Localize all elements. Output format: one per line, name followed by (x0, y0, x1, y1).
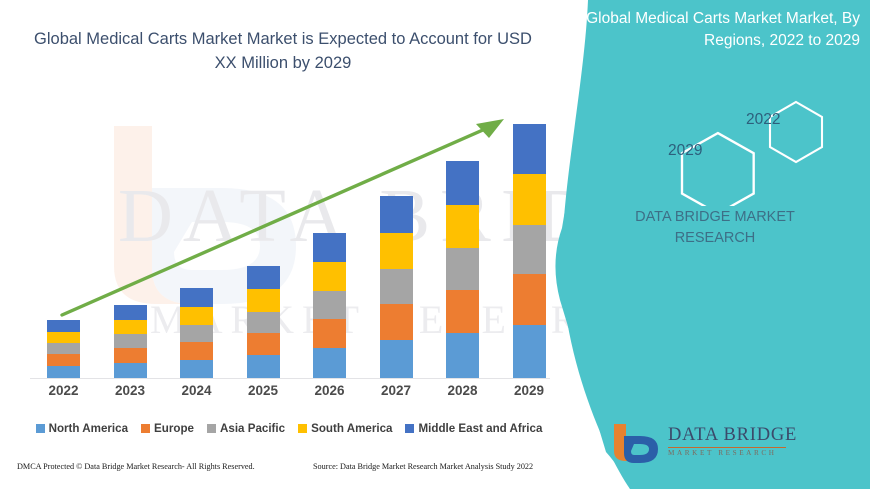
hexagon-label-2029: 2029 (668, 142, 702, 160)
bar-segment-middle-east-and-africa (380, 196, 413, 233)
data-bridge-mark-icon (610, 423, 662, 469)
bar-segment-north-america (513, 325, 546, 378)
legend-swatch-icon (141, 424, 150, 433)
bar-segment-south-america (247, 289, 280, 312)
bar-segment-north-america (114, 363, 147, 378)
copyright-note: DMCA Protected © Data Bridge Market Rese… (17, 462, 255, 471)
legend-item-north-america[interactable]: North America (36, 422, 128, 435)
infographic-canvas: DATA BRIDGE MARKET RESEARCH Global Medic… (0, 0, 870, 489)
bar-2026 (313, 233, 346, 378)
bar-2023 (114, 305, 147, 378)
legend-label: Middle East and Africa (418, 422, 542, 435)
stacked-bar-chart (0, 90, 580, 390)
x-axis-label-2025: 2025 (233, 383, 293, 398)
bar-segment-north-america (180, 360, 213, 378)
bar-segment-europe (446, 290, 479, 333)
bar-segment-asia-pacific (180, 325, 213, 342)
x-axis-label-2024: 2024 (167, 383, 227, 398)
bar-segment-south-america (47, 332, 80, 343)
legend-label: Asia Pacific (220, 422, 285, 435)
bar-segment-south-america (380, 233, 413, 269)
panel-heading: Global Medical Carts Market Market, By R… (558, 8, 860, 52)
bar-segment-europe (513, 274, 546, 325)
legend-label: South America (311, 422, 392, 435)
logo-sub-text: MARKET RESEARCH (668, 450, 797, 457)
hexagon-label-2022: 2022 (746, 111, 780, 129)
data-bridge-logo: DATA BRIDGE MARKET RESEARCH (610, 420, 850, 476)
bar-segment-north-america (47, 366, 80, 378)
brand-side-panel: Global Medical Carts Market Market, By R… (540, 0, 870, 489)
x-axis-label-2028: 2028 (433, 383, 493, 398)
bar-segment-asia-pacific (47, 343, 80, 354)
legend-label: Europe (154, 422, 194, 435)
bar-segment-north-america (247, 355, 280, 378)
bar-segment-asia-pacific (313, 291, 346, 319)
bar-segment-south-america (313, 262, 346, 291)
bar-segment-middle-east-and-africa (180, 288, 213, 307)
logo-divider (668, 447, 786, 448)
bar-segment-europe (180, 342, 213, 360)
panel-brand-text: DATA BRIDGE MARKET RESEARCH (580, 207, 850, 248)
legend-swatch-icon (298, 424, 307, 433)
source-note: Source: Data Bridge Market Research Mark… (313, 462, 533, 471)
bar-segment-europe (247, 333, 280, 355)
legend-swatch-icon (36, 424, 45, 433)
x-axis-label-2023: 2023 (100, 383, 160, 398)
bar-2025 (247, 266, 280, 378)
legend-item-asia-pacific[interactable]: Asia Pacific (207, 422, 285, 435)
panel-brand-line1: DATA BRIDGE MARKET (635, 209, 795, 225)
bar-segment-europe (47, 354, 80, 366)
growth-trend-arrow-icon (0, 90, 580, 390)
bar-segment-middle-east-and-africa (247, 266, 280, 289)
bar-segment-asia-pacific (114, 334, 147, 348)
logo-wordmark: DATA BRIDGE MARKET RESEARCH (668, 426, 797, 457)
bar-segment-middle-east-and-africa (446, 161, 479, 205)
bar-2029 (513, 124, 546, 378)
x-axis-label-2026: 2026 (300, 383, 360, 398)
legend-item-middle-east-and-africa[interactable]: Middle East and Africa (405, 422, 542, 435)
bar-segment-north-america (313, 348, 346, 378)
bar-segment-south-america (446, 205, 479, 248)
bar-segment-middle-east-and-africa (114, 305, 147, 320)
hexagon-badges: 2029 2022 (636, 96, 856, 206)
bar-2022 (47, 320, 80, 378)
chart-baseline-axis (30, 378, 550, 379)
legend-label: North America (49, 422, 128, 435)
legend-swatch-icon (405, 424, 414, 433)
x-axis-labels: 20222023202420252026202720282029 (0, 383, 580, 405)
bar-segment-asia-pacific (513, 225, 546, 274)
bar-2024 (180, 288, 213, 378)
legend-item-south-america[interactable]: South America (298, 422, 392, 435)
bar-segment-south-america (114, 320, 147, 334)
bar-segment-asia-pacific (446, 248, 479, 290)
bar-segment-south-america (513, 174, 546, 225)
bar-segment-middle-east-and-africa (313, 233, 346, 262)
bar-segment-north-america (446, 333, 479, 378)
bar-segment-asia-pacific (247, 312, 280, 333)
bar-segment-europe (380, 304, 413, 340)
bar-segment-asia-pacific (380, 269, 413, 304)
chart-legend: North AmericaEuropeAsia PacificSouth Ame… (0, 418, 578, 438)
bar-segment-europe (313, 319, 346, 348)
bar-2028 (446, 161, 479, 378)
panel-brand-line2: RESEARCH (675, 230, 756, 246)
x-axis-label-2029: 2029 (499, 383, 559, 398)
bar-segment-middle-east-and-africa (513, 124, 546, 174)
bar-segment-europe (114, 348, 147, 363)
page-title: Global Medical Carts Market Market is Ex… (28, 28, 538, 76)
legend-swatch-icon (207, 424, 216, 433)
bar-2027 (380, 196, 413, 378)
x-axis-label-2022: 2022 (34, 383, 94, 398)
bar-segment-north-america (380, 340, 413, 378)
logo-main-text: DATA BRIDGE (668, 426, 797, 445)
legend-item-europe[interactable]: Europe (141, 422, 194, 435)
bar-segment-south-america (180, 307, 213, 325)
x-axis-label-2027: 2027 (366, 383, 426, 398)
bar-segment-middle-east-and-africa (47, 320, 80, 332)
